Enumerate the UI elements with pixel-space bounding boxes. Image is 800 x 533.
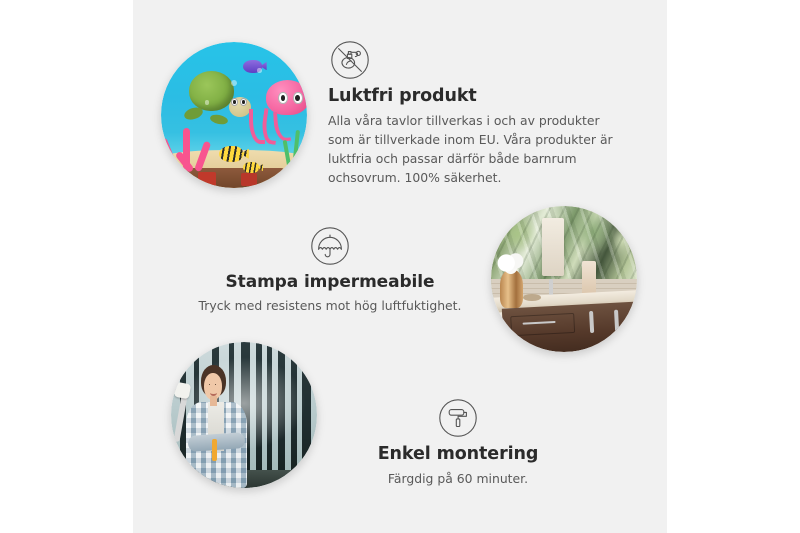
screenshot-root: Luktfri produkt Alla våra tavlor tillver… [0,0,800,533]
feature-block-easy-mounting: Enkel montering Färgdig på 60 minuter. [323,398,593,489]
yellow-striped-fish-small [243,162,259,174]
paint-brush [212,439,217,461]
octopus-eye-left [278,92,288,105]
feature-image-underwater-kids-illustration [161,42,307,188]
forest-mural-photo [171,342,317,488]
coral-graphic [167,127,214,171]
bubble [257,68,261,72]
feature-panel: Luktfri produkt Alla våra tavlor tillver… [133,0,667,533]
underwater-illustration [161,42,307,188]
feature-title: Stampa impermeabile [185,272,475,292]
feature-description: Alla våra tavlor tillverkas i och av pro… [328,112,616,187]
no-spray-bottle-icon [330,40,370,80]
eye-left [209,384,211,385]
umbrella-icon [310,226,350,266]
feature-image-bathroom-tropical-wallpaper [491,206,637,352]
woman-painter [180,365,262,488]
bubble [205,100,209,104]
feature-description: Färgdig på 60 minuter. [323,470,593,489]
eye-right [215,384,217,385]
feature-block-odour-free: Luktfri produkt Alla våra tavlor tillver… [328,40,616,187]
wooden-vanity-cabinet [501,302,637,352]
neck [210,396,217,406]
feature-description: Tryck med resistens mot hög luftfuktighe… [185,297,475,316]
turtle-fin-rear [209,113,228,125]
feature-title: Enkel montering [323,444,593,465]
cabinet-handle [614,310,619,332]
vanity-drawer [510,313,575,336]
cabinet-handle [589,311,594,333]
sea-turtle-graphic [184,71,248,121]
paint-roller-icon [438,398,478,438]
soap-dish [523,294,541,301]
feature-image-woman-painter-forest-mural [171,342,317,488]
feature-title: Luktfri produkt [328,86,616,107]
white-flowers [494,250,529,276]
octopus-eye-right [293,92,303,105]
mirror-panel [542,218,564,276]
smile [210,389,217,395]
feature-block-waterproof-print: Stampa impermeabile Tryck med resistens … [185,226,475,316]
coral-branch [194,140,211,171]
turtle-shell [189,71,234,111]
bathroom-photo [491,206,637,352]
paint-roller-head [174,381,191,398]
yellow-striped-fish [219,146,242,162]
bubble [231,80,237,86]
